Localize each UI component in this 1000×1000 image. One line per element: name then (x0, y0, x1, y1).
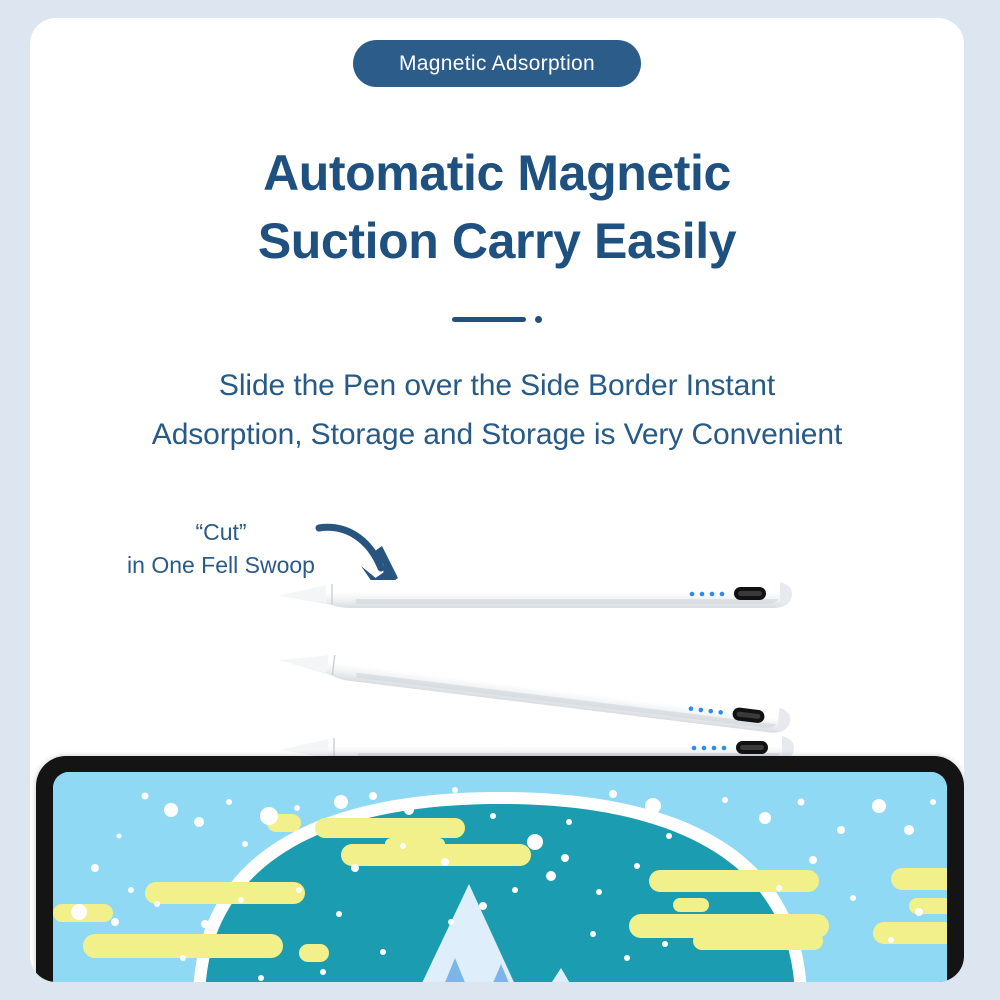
stylus-pen-top (276, 572, 796, 616)
subtitle-line-1: Slide the Pen over the Side Border Insta… (219, 369, 775, 402)
headline-line-2: Suction Carry Easily (30, 208, 964, 276)
subtitle: Slide the Pen over the Side Border Insta… (30, 362, 964, 459)
product-feature-card: Magnetic Adsorption Automatic Magnetic S… (30, 18, 964, 982)
divider (30, 316, 964, 323)
tablet-device (36, 756, 964, 982)
feature-badge: Magnetic Adsorption (353, 40, 641, 87)
divider-dot (535, 316, 542, 323)
cut-annotation-quoted: “Cut” (106, 516, 336, 549)
headline-line-1: Automatic Magnetic (263, 145, 731, 201)
tablet-screen (53, 772, 947, 982)
page-root: Magnetic Adsorption Automatic Magnetic S… (0, 0, 1000, 1000)
subtitle-line-2: Adsorption, Storage and Storage is Very … (30, 411, 964, 460)
page-title: Automatic Magnetic Suction Carry Easily (30, 140, 964, 275)
stylus-pen-group (30, 558, 964, 788)
divider-bar (452, 317, 526, 322)
